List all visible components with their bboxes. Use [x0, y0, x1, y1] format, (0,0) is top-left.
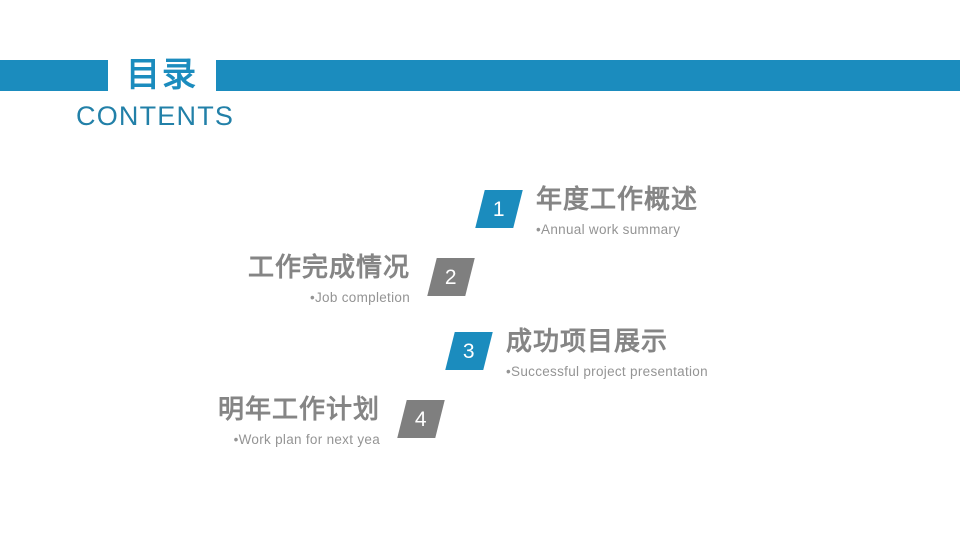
- contents-item-2[interactable]: 工作完成情况 •Job completion 2: [248, 258, 470, 305]
- item-title-1: 年度工作概述: [536, 186, 698, 213]
- item-number-4: 4: [415, 409, 427, 430]
- item-subtitle-3: •Successful project presentation: [506, 365, 708, 379]
- page-title-english: CONTENTS: [76, 103, 234, 130]
- header-bar-left-segment: [0, 60, 108, 91]
- header-bar-right-segment: [216, 60, 960, 91]
- item-number-1: 1: [493, 199, 505, 220]
- item-subtitle-4: •Work plan for next yea: [218, 433, 380, 447]
- item-text-block-2: 工作完成情况 •Job completion: [248, 254, 410, 305]
- item-subtitle-1: •Annual work summary: [536, 223, 698, 237]
- page-title-chinese: 目录: [108, 50, 216, 100]
- contents-item-4[interactable]: 明年工作计划 •Work plan for next yea 4: [218, 400, 440, 447]
- contents-item-1[interactable]: 1 年度工作概述 •Annual work summary: [480, 190, 698, 237]
- item-title-3: 成功项目展示: [506, 328, 708, 355]
- item-text-block-1: 年度工作概述 •Annual work summary: [536, 186, 698, 237]
- contents-item-3[interactable]: 3 成功项目展示 •Successful project presentatio…: [450, 332, 708, 379]
- item-number-2: 2: [445, 267, 457, 288]
- item-number-3: 3: [463, 341, 475, 362]
- item-title-2: 工作完成情况: [248, 254, 410, 281]
- item-number-badge-3: 3: [445, 332, 492, 370]
- item-number-badge-2: 2: [427, 258, 474, 296]
- item-title-4: 明年工作计划: [218, 396, 380, 423]
- item-text-block-3: 成功项目展示 •Successful project presentation: [506, 328, 708, 379]
- contents-slide: 目录 CONTENTS 1 年度工作概述 •Annual work summar…: [0, 0, 960, 540]
- item-text-block-4: 明年工作计划 •Work plan for next yea: [218, 396, 380, 447]
- item-number-badge-4: 4: [397, 400, 444, 438]
- item-subtitle-2: •Job completion: [248, 291, 410, 305]
- item-number-badge-1: 1: [475, 190, 522, 228]
